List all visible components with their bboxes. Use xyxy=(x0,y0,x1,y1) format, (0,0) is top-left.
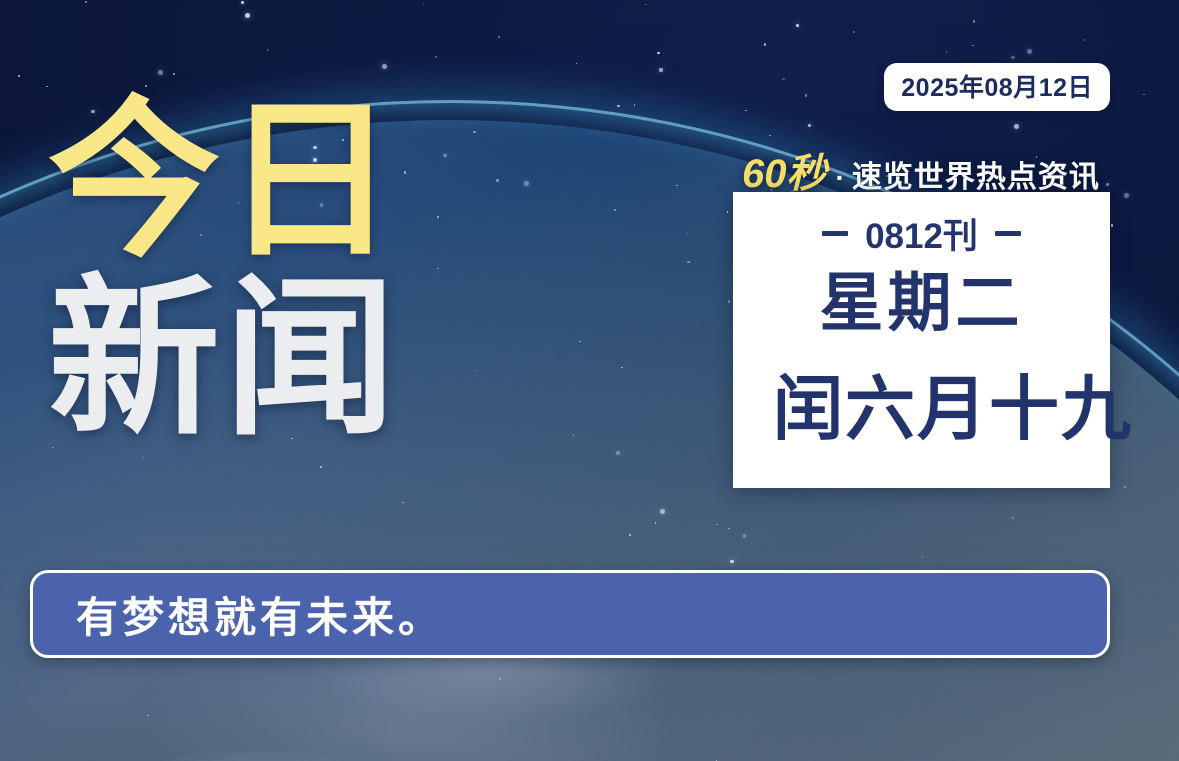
issue-number: 0812刊 xyxy=(865,208,978,259)
date-badge: 2025年08月12日 xyxy=(884,63,1110,111)
issue-info-card: 0812刊 星期二 闰六月十九 xyxy=(733,192,1110,488)
tagline: 60秒 · 速览世界热点资讯 xyxy=(742,141,1100,199)
lunar-date-label: 闰六月十九 xyxy=(773,374,1133,444)
page-title: 今日 新闻 xyxy=(48,96,478,445)
page-title-line-1: 今日 xyxy=(48,96,478,266)
quote-bar: 有梦想就有未来。 xyxy=(30,570,1110,658)
lunar-date-overflow-text: 闰六月十九 xyxy=(1110,374,1133,444)
quote-text: 有梦想就有未来。 xyxy=(76,584,444,645)
issue-number-row: 0812刊 xyxy=(822,208,1021,259)
issue-info-content: 0812刊 星期二 闰六月十九 xyxy=(733,192,1110,488)
tagline-text: 速览世界热点资讯 xyxy=(852,152,1100,196)
tagline-separator-icon: · xyxy=(836,162,845,194)
tagline-duration: 60秒 xyxy=(742,141,827,199)
lunar-date-overflow: 闰六月十九 xyxy=(1110,374,1179,488)
dash-left-icon xyxy=(822,231,848,236)
news-poster: 2025年08月12日 今日 新闻 60秒 · 速览世界热点资讯 0812刊 星… xyxy=(0,0,1179,761)
weekday-label: 星期二 xyxy=(820,271,1024,338)
dash-right-icon xyxy=(995,231,1021,236)
page-title-line-2: 新闻 xyxy=(48,274,478,444)
